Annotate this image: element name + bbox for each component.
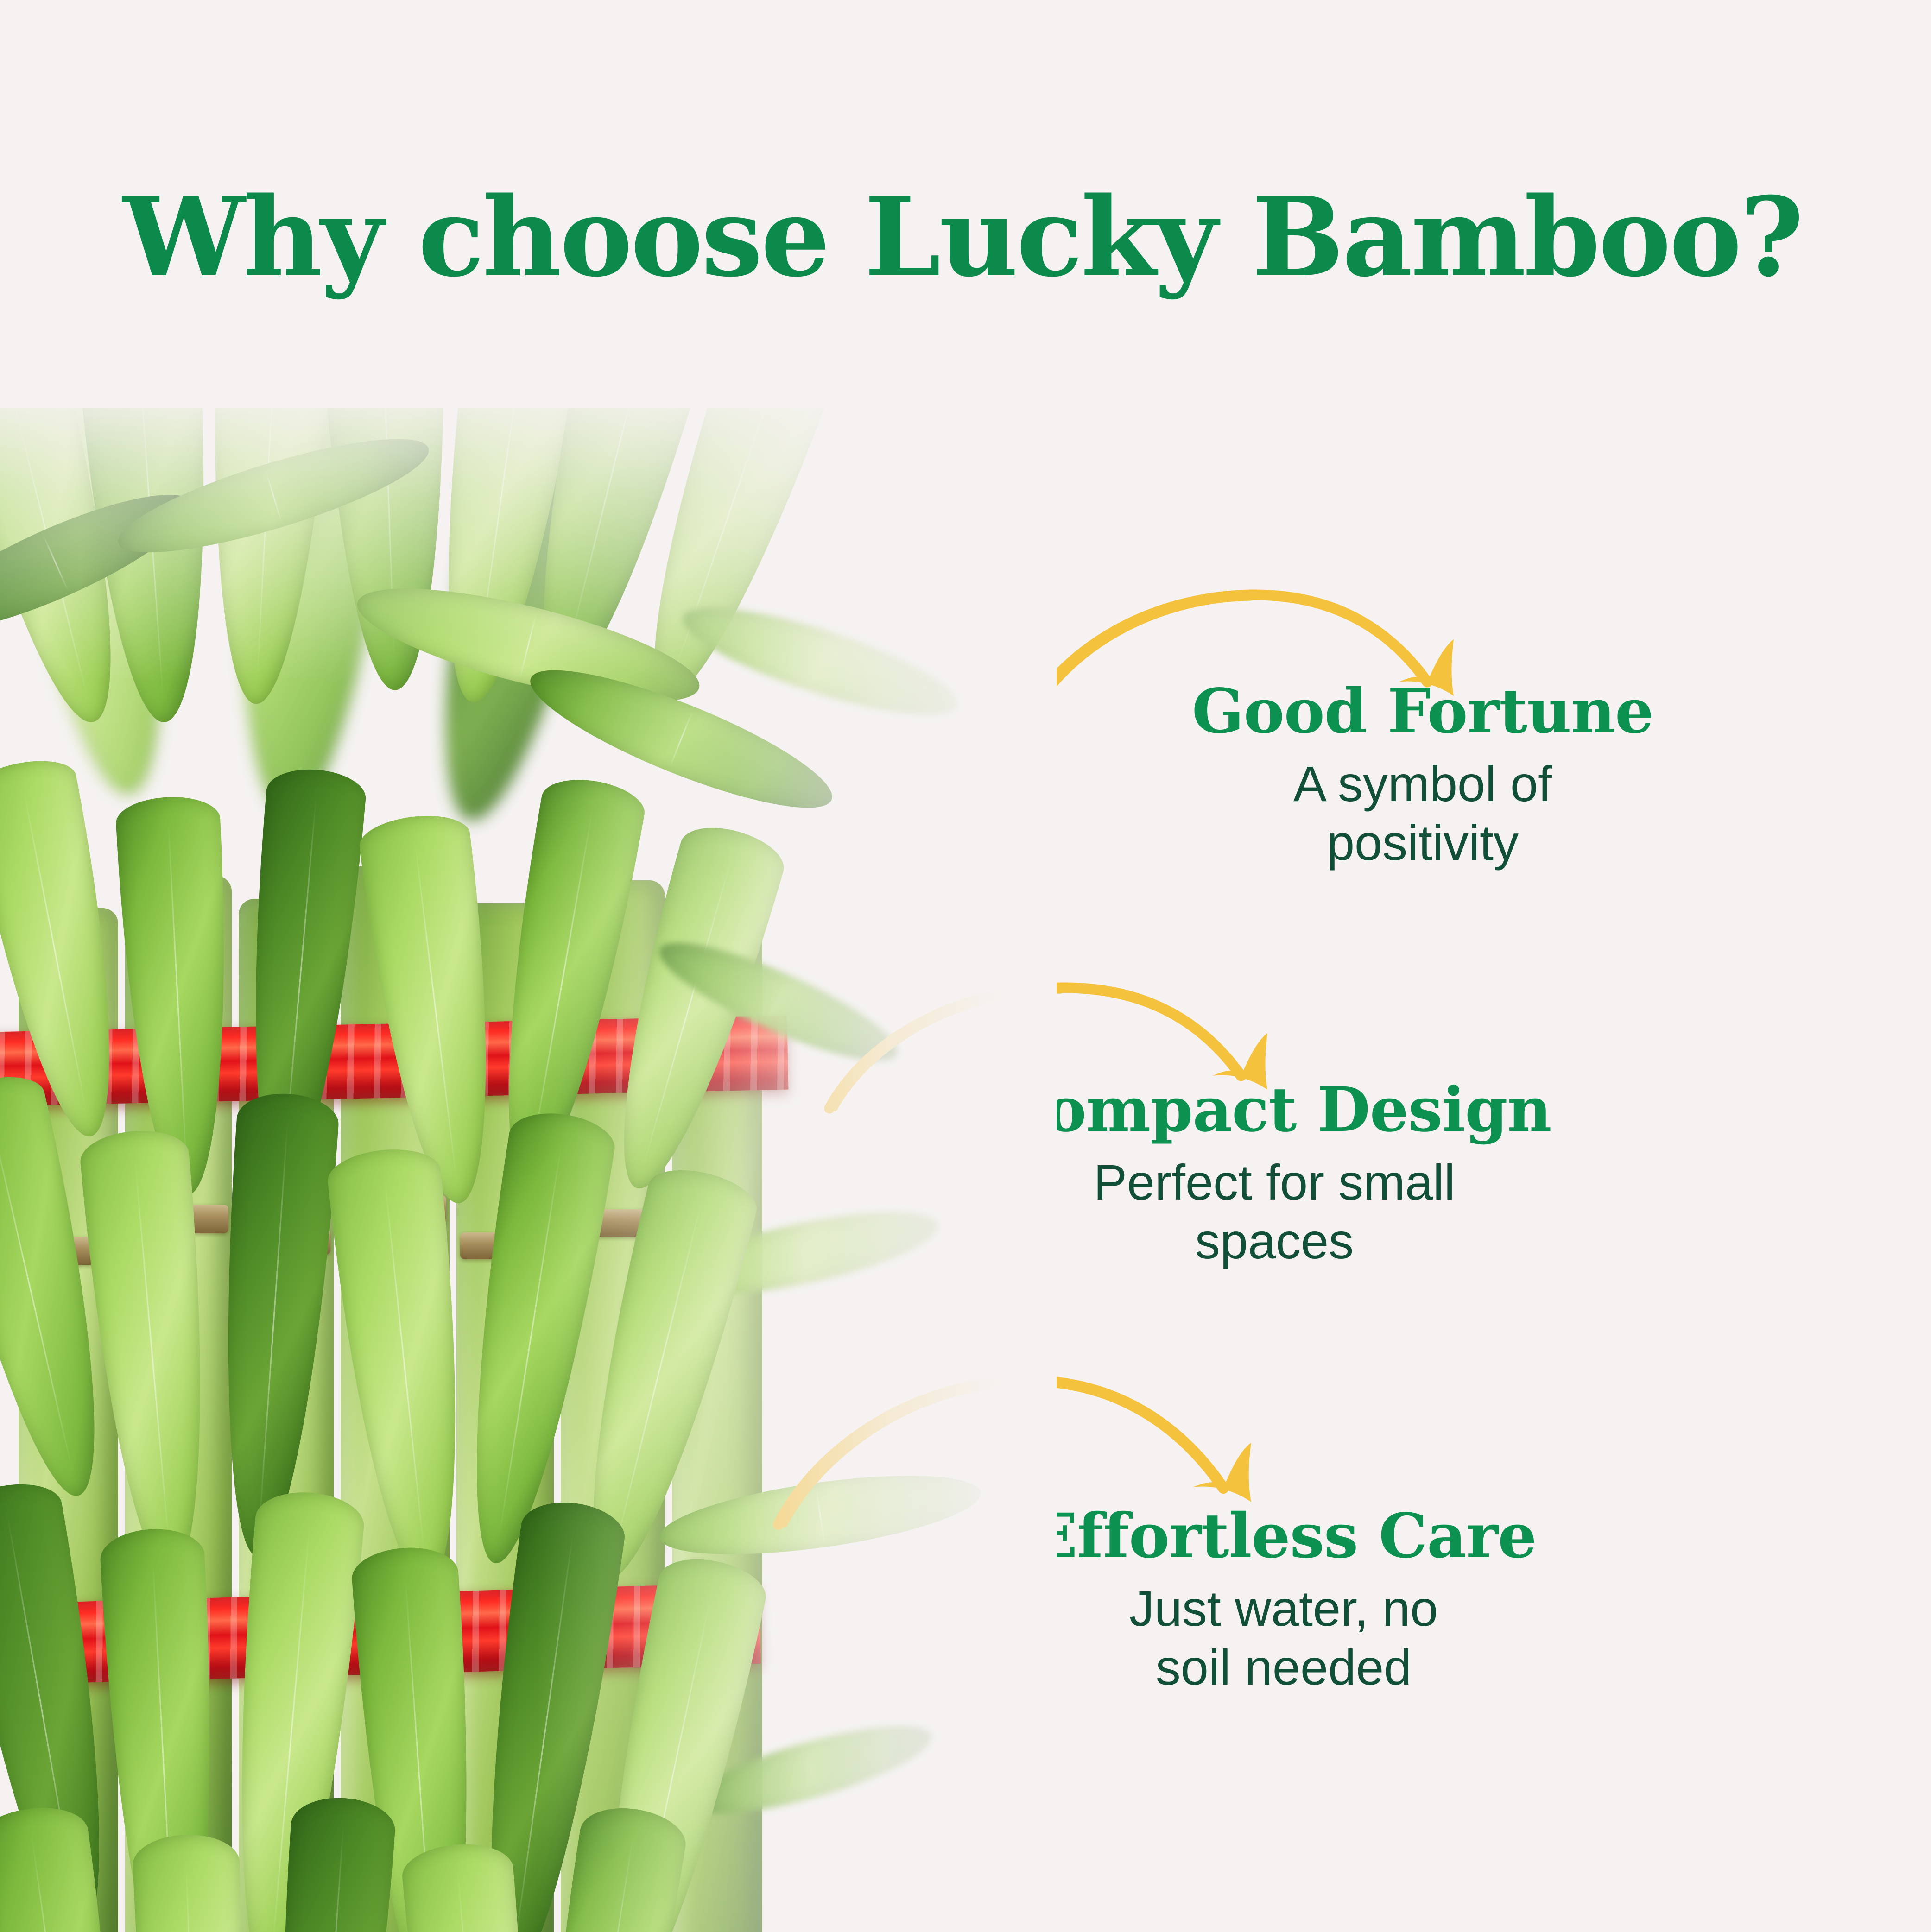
bamboo-stalk-5 [456, 903, 554, 1932]
leaf-29 [0, 1477, 136, 1932]
stalk-cut-top-2 [352, 1594, 440, 1652]
stalk-cut-top-3 [570, 1612, 653, 1668]
leaf-1 [0, 408, 150, 736]
stalk-node-4 [344, 1195, 446, 1225]
feature-heading: Good Fortune [1131, 681, 1715, 742]
feature-compact-design: Compact Design Perfect for small spaces [969, 1080, 1580, 1271]
leaf-25 [206, 1091, 340, 1560]
leaf-14 [232, 765, 368, 1189]
leaf-27 [443, 1106, 619, 1572]
feature-description-line-2: spaces [969, 1212, 1580, 1270]
leaf-2 [73, 408, 226, 726]
leaf-18 [674, 587, 966, 736]
leaf-back-2 [211, 408, 405, 821]
feature-effortless-care: Effortless Care Just water, no soil need… [987, 1506, 1580, 1697]
feature-description-line-1: Perfect for small [969, 1153, 1580, 1212]
red-ribbon-lower [0, 1583, 761, 1686]
leaf-10 [348, 566, 708, 725]
stalk-node-3 [242, 1228, 330, 1255]
leaf-13 [115, 795, 240, 1198]
leaf-37 [263, 1794, 397, 1932]
leaf-16 [475, 772, 648, 1192]
poster-canvas: Why choose Lucky Bamboo? [0, 0, 1931, 1931]
bamboo-stalk-1 [19, 908, 118, 1932]
bamboo-stalk-2 [125, 876, 232, 1932]
leaf-11 [518, 646, 844, 832]
bamboo-stalk-7 [672, 917, 762, 1932]
leaf-31 [215, 1488, 366, 1932]
stalk-node-2 [129, 1205, 228, 1233]
stalk-cut-top-1 [28, 1622, 110, 1677]
leaf-17 [586, 817, 791, 1203]
leaf-35 [0, 1801, 142, 1932]
feature-description: Perfect for small spaces [969, 1153, 1580, 1271]
leaf-4 [316, 408, 458, 692]
stalk-node-5 [460, 1232, 551, 1259]
leaf-12 [0, 753, 144, 1147]
feature-description-line-1: Just water, no [987, 1579, 1580, 1638]
leaf-15 [357, 810, 515, 1210]
leaf-6 [497, 408, 745, 699]
leaf-5 [415, 408, 590, 710]
leaf-back-3 [404, 408, 620, 834]
leaf-7 [612, 408, 855, 716]
leaf-20 [664, 1195, 944, 1311]
feature-description-line-2: positivity [1131, 813, 1715, 872]
bamboo-stalk-3 [239, 899, 334, 1932]
feature-description-line-1: A symbol of [1131, 754, 1715, 813]
leaf-34 [570, 1550, 772, 1932]
feature-heading: Effortless Care [987, 1506, 1580, 1567]
stalk-node-1 [22, 1237, 115, 1265]
leaf-26 [325, 1144, 484, 1589]
leaf-24 [78, 1127, 226, 1579]
bamboo-stalk-6 [561, 880, 665, 1932]
leaf-8 [0, 471, 205, 655]
photo-edge-fade [0, 408, 1057, 1932]
leaf-39 [519, 1801, 690, 1932]
leaf-32 [350, 1544, 488, 1932]
leaf-33 [458, 1496, 629, 1932]
bamboo-stalk-4 [341, 866, 450, 1932]
bamboo-plant-photo [0, 408, 1057, 1932]
feature-heading: Compact Design [969, 1080, 1580, 1141]
leaf-back-1 [0, 408, 199, 805]
leaf-36 [132, 1833, 253, 1932]
leaf-9 [109, 417, 438, 575]
page-title: Why choose Lucky Bamboo? [123, 183, 1802, 292]
leaf-28 [554, 1160, 763, 1591]
leaf-22 [683, 1709, 939, 1831]
leaf-23 [0, 1067, 134, 1509]
feature-description: Just water, no soil needed [987, 1579, 1580, 1697]
leaf-3 [197, 408, 339, 707]
red-ribbon-upper [0, 1016, 788, 1107]
stalk-node-6 [564, 1209, 662, 1237]
leaf-38 [400, 1840, 545, 1932]
leaf-30 [99, 1527, 228, 1932]
feature-good-fortune: Good Fortune A symbol of positivity [1131, 681, 1715, 872]
feature-description: A symbol of positivity [1131, 754, 1715, 872]
feature-description-line-2: soil needed [987, 1638, 1580, 1697]
